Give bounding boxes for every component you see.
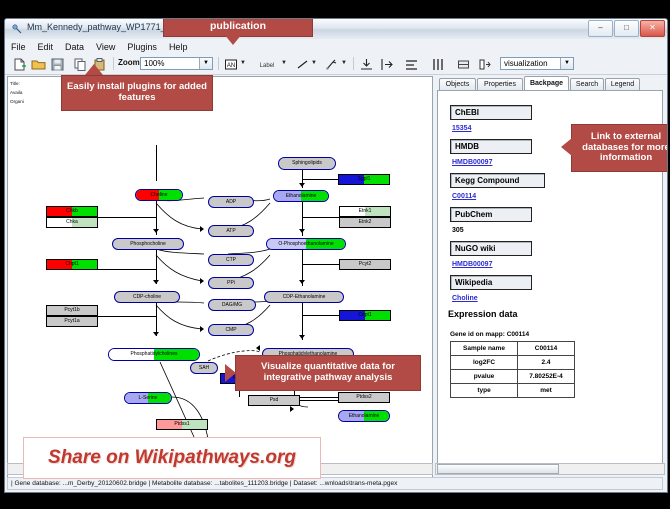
- wikipedia-link[interactable]: Choline: [452, 295, 478, 302]
- node-label: Sgpl1: [358, 177, 371, 182]
- zoom-value: 100%: [144, 59, 164, 68]
- node-label: Psd: [270, 398, 279, 403]
- node-label: PPi: [227, 281, 235, 286]
- panel-hscrollbar[interactable]: [435, 463, 665, 475]
- gene-id-line: Gene id on mapp: C00114: [450, 331, 529, 338]
- menu-bar: File Edit Data View Plugins Help: [5, 39, 667, 55]
- node-label: Phosphatidylcholines: [131, 352, 178, 357]
- callout-plugins: Easily install plugins for added feature…: [61, 75, 213, 111]
- gene-node-ptdss2[interactable]: Ptdss2: [338, 392, 390, 403]
- table-row: Sample name C00114: [451, 342, 575, 356]
- wikipedia-section-title: Wikipedia: [450, 275, 532, 290]
- gene-node-etnk2[interactable]: Etnk2: [339, 217, 391, 228]
- callout-share: Share on Wikipathways.org: [23, 437, 321, 479]
- node-label: Sphingolipids: [292, 161, 322, 166]
- gene-node-psd[interactable]: Psd: [248, 395, 300, 406]
- expression-table: Sample name C00114 log2FC 2.4 pvalue 7.8…: [450, 341, 575, 398]
- gene-node-chpt1[interactable]: Chpt1: [46, 259, 98, 270]
- metabolite-node-sphingolipids[interactable]: Sphingolipids: [278, 157, 336, 170]
- node-label: Pcyt1a: [64, 319, 79, 324]
- table-row: pvalue 7.80252E-4: [451, 370, 575, 384]
- svg-text:AN: AN: [227, 63, 235, 69]
- node-label: O-Phosphoethanolamine: [278, 242, 333, 247]
- zoom-label: Zoom:: [118, 58, 142, 67]
- cell-key: pvalue: [451, 370, 518, 384]
- node-label: Chkb: [66, 209, 78, 214]
- screenshot-root: Mm_Kennedy_pathway_WP1771_45176.gpml – □…: [0, 0, 670, 509]
- scrollbar-thumb[interactable]: [437, 464, 559, 474]
- node-label: ADP: [226, 200, 236, 205]
- node-label: DAG/MG: [222, 303, 242, 308]
- pubchem-value: 305: [452, 227, 464, 234]
- node-label: Etnk2: [359, 220, 372, 225]
- node-label: Choline: [151, 193, 168, 198]
- cell-key: log2FC: [451, 356, 518, 370]
- metabolite-node-o-phosphoethanolamine[interactable]: O-Phosphoethanolamine: [266, 238, 346, 250]
- tab-search[interactable]: Search: [570, 78, 604, 90]
- metabolite-node-phosphocholine[interactable]: Phosphocholine: [112, 238, 184, 250]
- receptor-icon[interactable]: [323, 56, 340, 73]
- save-icon[interactable]: [49, 56, 66, 73]
- callout-draw-pointer: [224, 34, 242, 45]
- svg-text:Label: Label: [260, 63, 275, 69]
- chevron-down-icon[interactable]: ▼: [560, 58, 573, 69]
- table-row: type met: [451, 384, 575, 398]
- node-label: Etnk1: [359, 209, 372, 214]
- node-label: Ptdss2: [356, 395, 371, 400]
- node-label: CTP: [226, 258, 236, 263]
- metabolite-node-ethanolamine-bottom[interactable]: Ethanolamine: [338, 410, 390, 422]
- order-icon[interactable]: [477, 56, 494, 73]
- chevron-down-icon[interactable]: ▼: [199, 58, 212, 69]
- application-window: Mm_Kennedy_pathway_WP1771_45176.gpml – □…: [4, 18, 668, 493]
- tab-backpage[interactable]: Backpage: [524, 76, 569, 90]
- expression-data-heading: Expression data: [448, 309, 518, 319]
- node-label: Ethanolamine: [349, 414, 380, 419]
- distribute-vertical-icon[interactable]: [403, 56, 420, 73]
- datanode-dropdown-icon[interactable]: ▼: [240, 60, 246, 66]
- line-dropdown-icon[interactable]: ▼: [311, 60, 317, 66]
- gene-node-chka[interactable]: Chka: [46, 217, 98, 228]
- menu-data[interactable]: Data: [59, 39, 90, 53]
- menu-view[interactable]: View: [90, 39, 121, 53]
- window-controls: – □ ✕: [588, 20, 665, 37]
- line-icon[interactable]: [294, 56, 311, 73]
- visualization-combo[interactable]: visualization ▼: [500, 57, 574, 70]
- gene-node-sgpl1[interactable]: Sgpl1: [338, 174, 390, 185]
- metabolite-node-adp[interactable]: ADP: [208, 196, 254, 208]
- pathvisio-icon: [11, 23, 23, 35]
- kegg-section-title: Kegg Compound: [450, 173, 545, 188]
- node-label: Cept1: [358, 313, 371, 318]
- zoom-combo[interactable]: 100% ▼: [140, 57, 213, 70]
- label-dropdown-icon[interactable]: ▼: [281, 60, 287, 66]
- cell-key: type: [451, 384, 518, 398]
- menu-file[interactable]: File: [5, 39, 32, 53]
- gene-node-ptdss1[interactable]: Ptdss1: [156, 419, 208, 430]
- callout-links-pointer: [561, 138, 572, 156]
- tab-strip: Objects Properties Backpage Search Legen…: [435, 76, 663, 90]
- metabolite-node-dag-mg[interactable]: DAG/MG: [208, 299, 256, 311]
- node-label: Chka: [66, 220, 78, 225]
- node-label: ATP: [226, 229, 235, 234]
- menu-plugins[interactable]: Plugins: [121, 39, 163, 53]
- node-label: CMP: [225, 328, 236, 333]
- metabolite-node-cdp-choline[interactable]: CDP-choline: [114, 291, 180, 303]
- callout-visualize: Visualize quantitative data for integrat…: [235, 355, 421, 391]
- callout-visualize-pointer: [225, 364, 236, 382]
- toolbar: Zoom: 100% ▼ AN ▼ Label ▼ ▼ ▼: [5, 54, 667, 75]
- metabolite-node-l-serine-left[interactable]: L-Serine: [124, 392, 172, 404]
- metabolite-node-cmp[interactable]: CMP: [208, 324, 254, 336]
- tab-objects[interactable]: Objects: [439, 78, 476, 90]
- receptor-dropdown-icon[interactable]: ▼: [341, 60, 347, 66]
- align-left-icon[interactable]: [379, 56, 396, 73]
- node-label: Ptdss1: [174, 422, 189, 427]
- hmdb-link[interactable]: HMDB00097: [452, 159, 492, 166]
- minimize-button[interactable]: –: [588, 20, 613, 37]
- cell-value: C00114: [518, 342, 575, 356]
- menu-edit[interactable]: Edit: [32, 39, 60, 53]
- pubchem-section-title: PubChem: [450, 207, 532, 222]
- metabolite-node-atp[interactable]: ATP: [208, 225, 254, 237]
- visualization-value: visualization: [504, 59, 548, 68]
- menu-help[interactable]: Help: [163, 39, 194, 53]
- gene-node-chkb[interactable]: Chkb: [46, 206, 98, 217]
- chebi-link[interactable]: 15354: [452, 125, 471, 132]
- node-label: Ethanolamine: [286, 194, 317, 199]
- gene-node-pcyt1a[interactable]: Pcyt1a: [46, 316, 98, 327]
- cell-value: met: [518, 384, 575, 398]
- cell-value: 2.4: [518, 356, 575, 370]
- gene-node-pcyt2[interactable]: Pcyt2: [339, 259, 391, 270]
- node-label: L-Serine: [139, 396, 158, 401]
- hmdb-section-title: HMDB: [450, 139, 532, 154]
- pathway-canvas[interactable]: Title: Availa Organi: [7, 76, 433, 478]
- maximize-button[interactable]: □: [614, 20, 639, 37]
- node-label: Chpt1: [65, 262, 78, 267]
- node-label: CDP-choline: [133, 295, 161, 300]
- kegg-link[interactable]: C00114: [452, 193, 476, 200]
- metabolite-node-ctp[interactable]: CTP: [208, 254, 254, 266]
- metabolite-node-cdp-ethanolamine[interactable]: CDP-Ethanolamine: [264, 291, 344, 303]
- node-label: Pcyt2: [359, 262, 372, 267]
- table-row: log2FC 2.4: [451, 356, 575, 370]
- node-label: Phosphocholine: [130, 242, 166, 247]
- title-bar: Mm_Kennedy_pathway_WP1771_45176.gpml – □…: [5, 19, 667, 40]
- node-label: SAH: [199, 366, 209, 371]
- node-label: CDP-Ethanolamine: [283, 295, 326, 300]
- group-icon[interactable]: [455, 56, 472, 73]
- metabolite-node-sah[interactable]: SAH: [190, 362, 218, 374]
- gene-node-cept1[interactable]: Cept1: [339, 310, 391, 321]
- metabolite-node-ppi[interactable]: PPi: [208, 277, 254, 289]
- callout-links: Link to external databases for more info…: [571, 124, 668, 172]
- new-file-icon[interactable]: [11, 56, 28, 73]
- align-bottom-icon[interactable]: [358, 56, 375, 73]
- label-icon[interactable]: Label: [253, 56, 281, 73]
- nugo-link[interactable]: HMDB00097: [452, 261, 492, 268]
- node-label: Pcyt1b: [64, 308, 79, 313]
- chebi-section-title: ChEBI: [450, 105, 532, 120]
- metabolite-node-phosphatidylcholines[interactable]: Phosphatidylcholines: [108, 348, 200, 361]
- share-text: Share on Wikipathways.org: [48, 447, 296, 469]
- gene-node-etnk1[interactable]: Etnk1: [339, 206, 391, 217]
- tab-legend[interactable]: Legend: [605, 78, 640, 90]
- open-folder-icon[interactable]: [30, 56, 47, 73]
- gene-node-pcyt1b[interactable]: Pcyt1b: [46, 305, 98, 316]
- datanode-icon[interactable]: AN: [223, 56, 240, 73]
- callout-plugins-pointer: [85, 64, 103, 75]
- tab-properties[interactable]: Properties: [477, 78, 523, 90]
- metabolite-node-choline-top[interactable]: Choline: [135, 189, 183, 201]
- distribute-horizontal-icon[interactable]: [429, 56, 446, 73]
- close-button[interactable]: ✕: [640, 20, 665, 37]
- cell-value: 7.80252E-4: [518, 370, 575, 384]
- cell-key: Sample name: [451, 342, 518, 356]
- metabolite-node-ethanolamine-top[interactable]: Ethanolamine: [273, 190, 329, 202]
- nugo-section-title: NuGO wiki: [450, 241, 532, 256]
